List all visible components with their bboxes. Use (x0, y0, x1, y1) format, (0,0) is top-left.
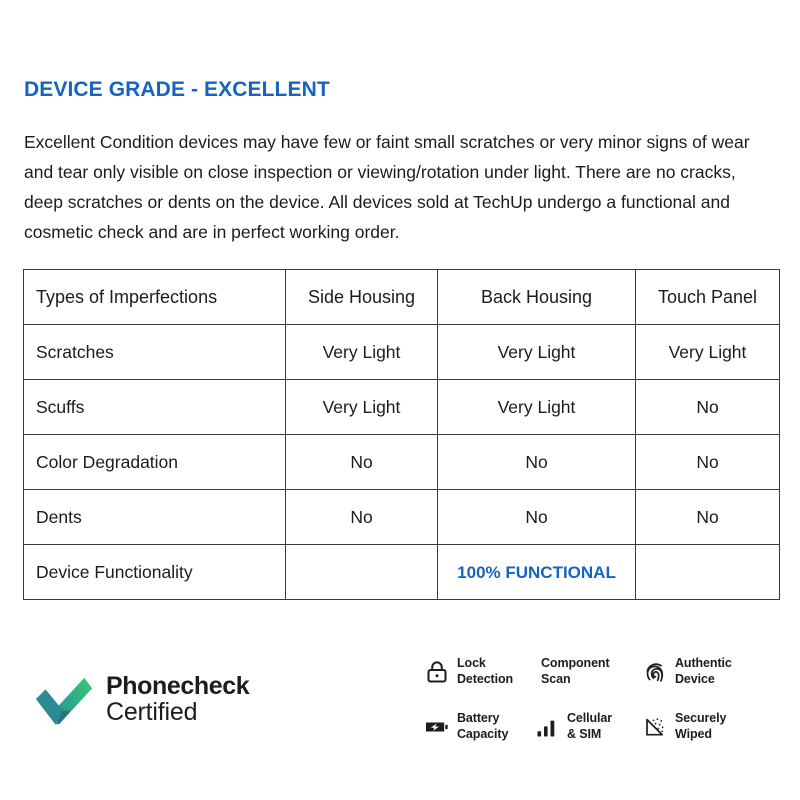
cell-side-housing: Very Light (286, 380, 438, 435)
column-header-side-housing: Side Housing (286, 270, 438, 325)
badge-label: Cellular & SIM (567, 711, 612, 742)
page-title: DEVICE GRADE - EXCELLENT (24, 78, 330, 102)
badge-label: Component Scan (541, 656, 610, 687)
imperfections-table: Types of Imperfections Side Housing Back… (23, 269, 780, 600)
cell-side-housing: No (286, 490, 438, 545)
column-header-back-housing: Back Housing (438, 270, 636, 325)
status-badge-functional: 100% FUNCTIONAL (457, 563, 616, 582)
table-header-row: Types of Imperfections Side Housing Back… (24, 270, 780, 325)
table-row: Device Functionality 100% FUNCTIONAL (24, 545, 780, 600)
row-label: Scratches (24, 325, 286, 380)
cell-side-housing (286, 545, 438, 600)
table-row: Dents No No No (24, 490, 780, 545)
table-row: Scuffs Very Light Very Light No (24, 380, 780, 435)
badge-label: Securely Wiped (675, 711, 726, 742)
table-row: Scratches Very Light Very Light Very Lig… (24, 325, 780, 380)
logo-wordmark: Phonecheck Certified (106, 673, 249, 726)
row-label: Scuffs (24, 380, 286, 435)
cell-touch-panel: Very Light (636, 325, 780, 380)
cell-touch-panel: No (636, 490, 780, 545)
cell-back-housing: No (438, 490, 636, 545)
cell-touch-panel: No (636, 380, 780, 435)
cell-touch-panel (636, 545, 780, 600)
badge-securely-wiped: Securely Wiped (642, 711, 780, 742)
row-label: Dents (24, 490, 286, 545)
battery-icon (424, 714, 450, 740)
table-row: Color Degradation No No No (24, 435, 780, 490)
column-header-types: Types of Imperfections (24, 270, 286, 325)
phonecheck-logo: Phonecheck Certified (32, 668, 249, 730)
logo-line-secondary: Certified (106, 699, 249, 726)
badge-authentic-device: Authentic Device (642, 656, 780, 687)
cell-back-housing: No (438, 435, 636, 490)
badge-component-scan: Component Scan (534, 656, 642, 687)
grade-description: Excellent Condition devices may have few… (24, 127, 776, 247)
badge-battery-capacity: Battery Capacity (424, 711, 534, 742)
device-grade-card: DEVICE GRADE - EXCELLENT Excellent Condi… (0, 0, 800, 800)
wipe-icon (642, 714, 668, 740)
cell-back-housing: Very Light (438, 325, 636, 380)
cell-back-housing: Very Light (438, 380, 636, 435)
signal-bars-icon (534, 714, 560, 740)
certification-footer: Phonecheck Certified Lock Detection Comp… (0, 636, 800, 766)
lock-icon (424, 659, 450, 685)
badge-lock-detection: Lock Detection (424, 656, 534, 687)
badge-label: Authentic Device (675, 656, 732, 687)
badge-cellular-sim: Cellular & SIM (534, 711, 642, 742)
certification-badge-grid: Lock Detection Component Scan Authentic … (424, 644, 780, 754)
row-label: Color Degradation (24, 435, 286, 490)
fingerprint-icon (642, 659, 668, 685)
badge-label: Battery Capacity (457, 711, 508, 742)
checkmark-icon (32, 668, 94, 730)
column-header-touch-panel: Touch Panel (636, 270, 780, 325)
cell-touch-panel: No (636, 435, 780, 490)
logo-line-primary: Phonecheck (106, 673, 249, 700)
badge-label: Lock Detection (457, 656, 513, 687)
cell-side-housing: No (286, 435, 438, 490)
cell-back-housing: 100% FUNCTIONAL (438, 545, 636, 600)
row-label: Device Functionality (24, 545, 286, 600)
cell-side-housing: Very Light (286, 325, 438, 380)
